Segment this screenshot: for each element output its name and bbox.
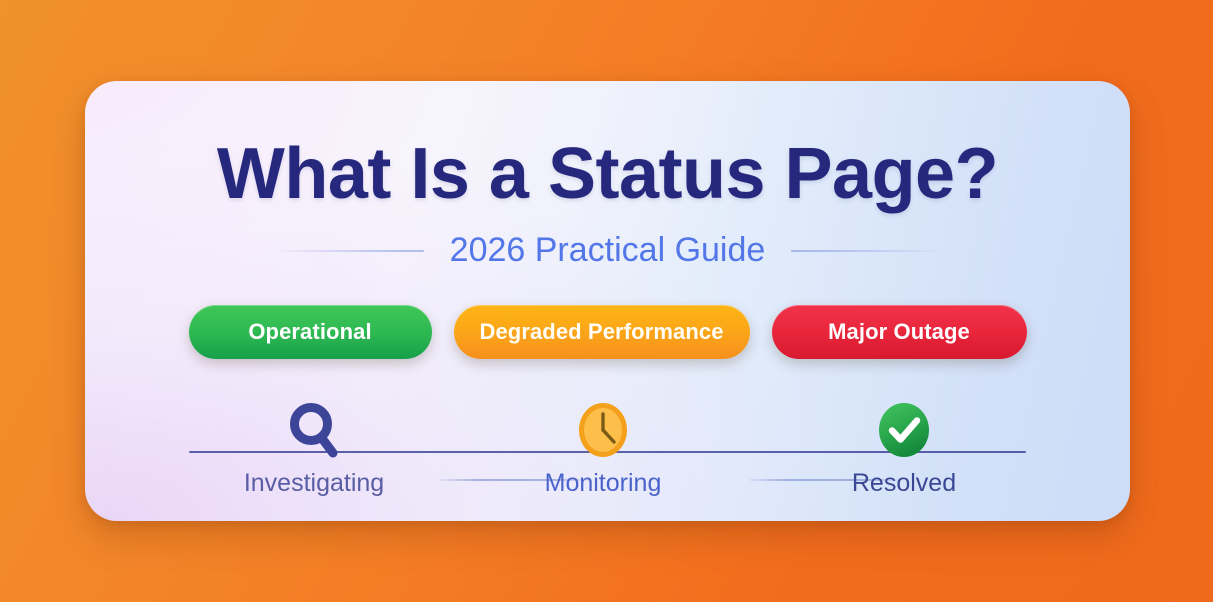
subtitle-row: 2026 Practical Guide [85,231,1130,270]
magnifying-glass-icon [285,399,343,461]
timeline-step-investigating[interactable]: Investigating [224,399,404,498]
timeline-step-label-monitoring: Monitoring [545,469,662,498]
page-subtitle: 2026 Practical Guide [450,231,766,270]
status-badge-operational[interactable]: Operational [189,305,432,359]
subtitle-rule-right [791,250,945,252]
timeline-step-label-investigating: Investigating [244,469,384,498]
incident-timeline: Investigating Monitoring [189,399,1026,491]
check-circle-icon [877,399,931,461]
status-badge-degraded-performance[interactable]: Degraded Performance [454,305,750,359]
status-badge-major-outage[interactable]: Major Outage [772,305,1027,359]
timeline-step-resolved[interactable]: Resolved [814,399,994,498]
page-title: What Is a Status Page? [85,133,1130,215]
clock-icon [577,399,629,461]
status-pill-group: Operational Degraded Performance Major O… [85,305,1130,359]
subtitle-rule-left [270,250,424,252]
timeline-step-label-resolved: Resolved [852,469,956,498]
status-page-card: What Is a Status Page? 2026 Practical Gu… [85,81,1130,521]
timeline-step-monitoring[interactable]: Monitoring [513,399,693,498]
